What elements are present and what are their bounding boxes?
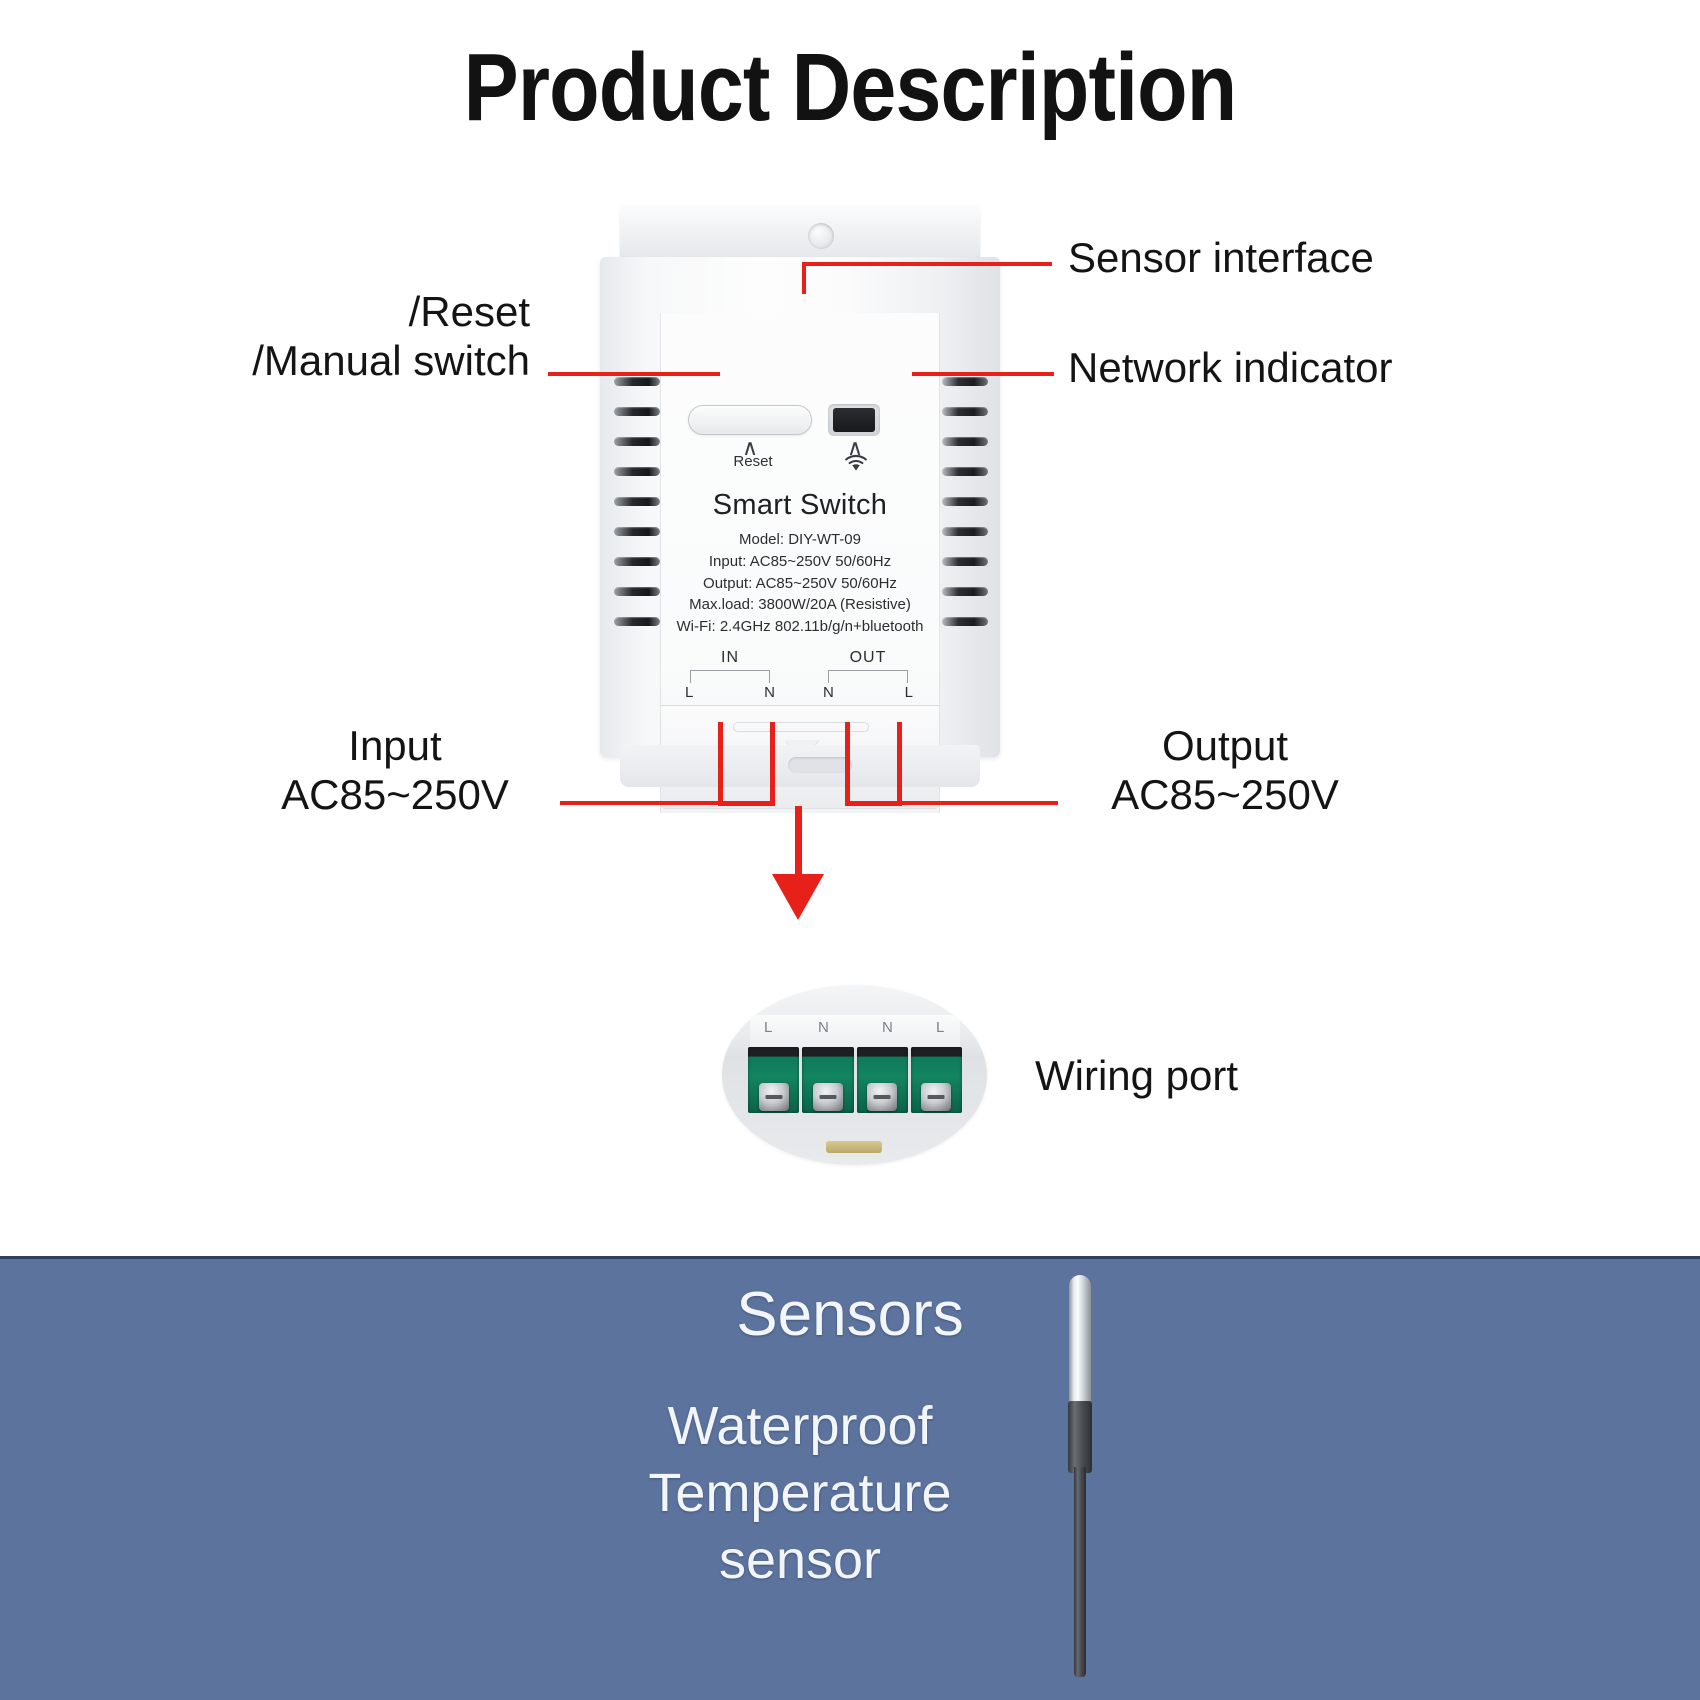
callout-label-reset: /Reset — [160, 288, 530, 337]
terminal-in-bracket — [690, 670, 770, 683]
wiring-port-arrow-head — [772, 874, 824, 920]
device-spec-model: Model: DIY-WT-09 — [660, 529, 940, 551]
terminal-screw — [813, 1083, 843, 1111]
sensor-caption: Waterproof Temperature sensor — [590, 1393, 1010, 1594]
vent-slots-left — [614, 377, 660, 647]
vent-slot — [942, 527, 988, 536]
terminal-screw — [921, 1083, 951, 1111]
wiring-port-terminal-cell — [857, 1047, 908, 1113]
wiring-port-pin-label-l2: L — [936, 1019, 944, 1036]
wiring-port-pin-label-n1: N — [818, 1019, 829, 1036]
vent-slot — [614, 407, 660, 416]
vent-slot — [614, 527, 660, 536]
callout-label-sensor-interface: Sensor interface — [1068, 234, 1374, 283]
wiring-port-terminal-block — [748, 1047, 962, 1113]
vent-slot — [614, 557, 660, 566]
vent-slots-right — [942, 377, 988, 647]
terminal-out-pin-l: L — [905, 684, 913, 701]
terminal-out-pin-n: N — [823, 684, 834, 701]
wiring-port-pin-label-l1: L — [764, 1019, 772, 1036]
callout-prong-in-base — [718, 801, 775, 806]
terminal-in-pin-n: N — [764, 684, 775, 701]
vent-slot — [614, 497, 660, 506]
callout-label-manual-switch: /Manual switch — [160, 337, 530, 386]
callout-prong-in-l — [718, 722, 723, 806]
wiring-port-terminal-cell — [802, 1047, 853, 1113]
vent-slot — [942, 557, 988, 566]
callout-label-wiring-port: Wiring port — [1035, 1052, 1238, 1101]
terminal-screw — [867, 1083, 897, 1111]
wiring-port-closeup: L N N L — [722, 985, 987, 1165]
vent-slot — [942, 407, 988, 416]
upper-panel: Product Description — [0, 0, 1700, 1252]
vent-slot — [942, 617, 988, 626]
device-spec-wifi: Wi-Fi: 2.4GHz 802.11b/g/n+bluetooth — [660, 616, 940, 638]
vent-slot — [942, 587, 988, 596]
wiring-port-bottom-tab — [826, 1141, 882, 1153]
terminal-in-pin-l: L — [685, 684, 693, 701]
device-spec-output: Output: AC85~250V 50/60Hz — [660, 573, 940, 595]
wiring-port-pin-label-n2: N — [882, 1019, 893, 1036]
callout-prong-out-base — [845, 801, 902, 806]
smart-switch-device-image: ∧ ∧ Reset Smart Switch Model: DIY-WT-09 … — [600, 205, 1000, 795]
wiring-port-arrow-shaft — [795, 806, 802, 878]
sensors-panel: Sensors Waterproof Temperature sensor — [0, 1256, 1700, 1700]
wiring-port-shell — [750, 1015, 960, 1049]
device-top-cap — [620, 205, 980, 265]
device-base — [620, 745, 980, 787]
vent-slot — [614, 587, 660, 596]
sensor-caption-line3: sensor — [590, 1527, 1010, 1594]
probe-stainless-tip — [1069, 1275, 1091, 1407]
callout-tick-sensor-interface — [802, 262, 806, 294]
callout-label-input: Input AC85~250V — [240, 722, 550, 819]
device-screw-hole — [808, 223, 834, 249]
callout-label-network-indicator: Network indicator — [1068, 344, 1392, 393]
callout-line-sensor-interface — [802, 262, 1052, 266]
device-spec-maxload: Max.load: 3800W/20A (Resistive) — [660, 594, 940, 616]
callout-line-reset-manual-switch — [548, 372, 720, 376]
vent-slot — [942, 467, 988, 476]
network-indicator-led-window — [833, 408, 875, 432]
callout-line-network-indicator — [912, 372, 1054, 376]
sensor-caption-line1: Waterproof — [590, 1393, 1010, 1460]
callout-label-reset-manual-switch: /Reset /Manual switch — [160, 288, 530, 385]
vent-slot — [614, 467, 660, 476]
wiring-port-terminal-cell — [748, 1047, 799, 1113]
callout-label-input-voltage: AC85~250V — [240, 771, 550, 820]
terminal-out-bracket — [828, 670, 908, 683]
sensors-section-title: Sensors — [0, 1279, 1700, 1350]
callout-prong-in-n — [770, 722, 775, 806]
probe-cable — [1074, 1467, 1086, 1677]
callout-line-output — [898, 801, 1058, 805]
page-title: Product Description — [119, 38, 1581, 139]
terminal-group-in: IN L N — [682, 649, 778, 701]
product-description-infographic: Product Description — [0, 0, 1700, 1700]
callout-prong-out-l — [897, 722, 902, 806]
callout-line-input — [560, 801, 722, 805]
callout-label-output-voltage: AC85~250V — [1070, 771, 1380, 820]
callout-label-output: Output AC85~250V — [1070, 722, 1380, 819]
vent-slot — [942, 497, 988, 506]
reset-printed-label: Reset — [718, 453, 788, 470]
vent-slot — [942, 377, 988, 386]
device-body: ∧ ∧ Reset Smart Switch Model: DIY-WT-09 … — [600, 257, 1000, 757]
device-brand-name: Smart Switch — [660, 489, 940, 522]
wifi-icon — [838, 453, 874, 477]
vent-slot — [614, 617, 660, 626]
device-base-notch — [788, 757, 852, 773]
wiring-port-terminal-cell — [911, 1047, 962, 1113]
callout-label-output-title: Output — [1070, 722, 1380, 771]
probe-rubber-sleeve — [1068, 1401, 1092, 1473]
terminal-out-title: OUT — [820, 649, 916, 667]
temperature-probe-image — [1055, 1275, 1105, 1695]
device-spec-input: Input: AC85~250V 50/60Hz — [660, 551, 940, 573]
device-label-plate: Smart Switch Model: DIY-WT-09 Input: AC8… — [660, 489, 940, 638]
vent-slot — [614, 377, 660, 386]
reset-manual-switch-button[interactable] — [688, 405, 812, 435]
terminal-in-title: IN — [682, 649, 778, 667]
terminal-group-out: OUT N L — [820, 649, 916, 701]
callout-label-input-title: Input — [240, 722, 550, 771]
vent-slot — [614, 437, 660, 446]
vent-slot — [942, 437, 988, 446]
terminal-screw — [759, 1083, 789, 1111]
sensor-caption-line2: Temperature — [590, 1460, 1010, 1527]
network-indicator-led — [828, 404, 880, 436]
callout-prong-out-n — [845, 722, 850, 806]
